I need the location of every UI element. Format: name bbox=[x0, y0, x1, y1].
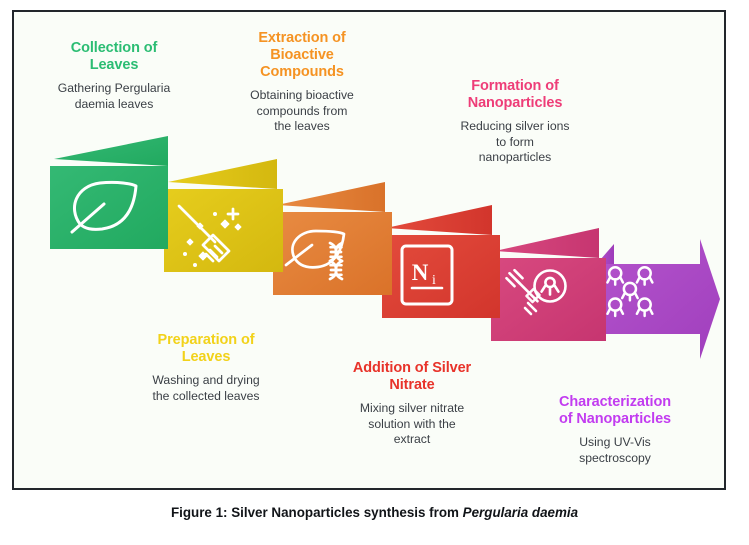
infographic-frame: Collection of Leaves Gathering Pergulari… bbox=[12, 10, 726, 490]
panel-step-1-collection[interactable] bbox=[50, 136, 168, 249]
caption-species-name: Pergularia daemia bbox=[463, 505, 578, 520]
figure-root: Collection of Leaves Gathering Pergulari… bbox=[0, 0, 749, 545]
panel-step-5-formation[interactable] bbox=[491, 228, 606, 341]
caption-prefix: Figure 1: Silver Nanoparticles synthesis… bbox=[171, 505, 463, 520]
panel-step-2-preparation[interactable] bbox=[164, 159, 283, 272]
element-symbol: N bbox=[412, 260, 429, 285]
element-subscript: i bbox=[432, 273, 436, 288]
panel-step-3-extraction[interactable] bbox=[273, 182, 392, 295]
process-ribbon-diagram: N i bbox=[14, 12, 726, 490]
panel-step-4-silver-nitrate[interactable]: N i bbox=[382, 205, 500, 318]
figure-caption: Figure 1: Silver Nanoparticles synthesis… bbox=[0, 505, 749, 520]
